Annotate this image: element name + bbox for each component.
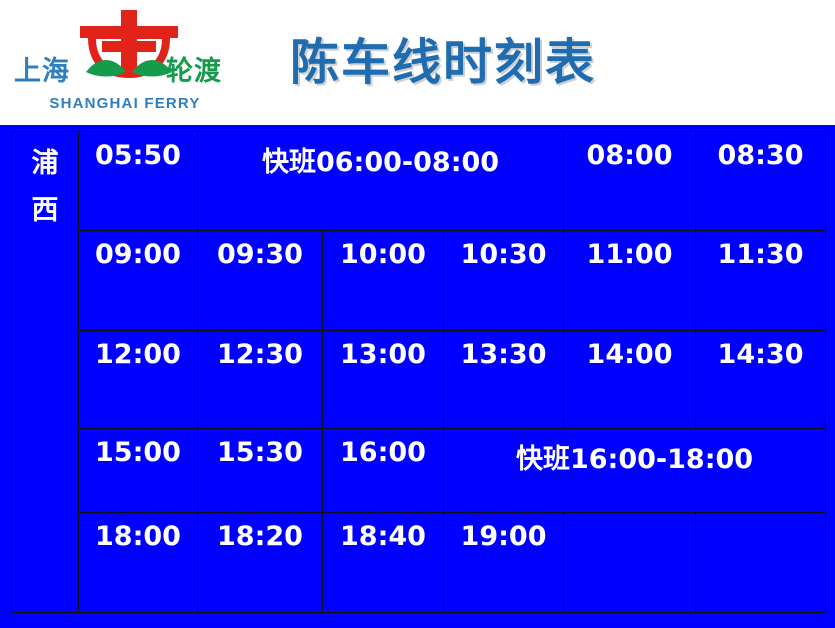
schedule-cell-time: 18:00 (79, 513, 198, 613)
table-row: 09:0009:3010:0010:3011:0011:30 (12, 231, 826, 331)
side-label-char-1: 浦 (14, 140, 76, 187)
table-row: 15:0015:3016:00快班16:00-18:00 (12, 429, 826, 513)
schedule-cell-time: 08:00 (564, 132, 696, 231)
shanghai-ferry-logo: 上海 轮渡 SHANGHAI FERRY (14, 8, 236, 118)
table-row: 12:0012:3013:0013:3014:0014:30 (12, 331, 826, 429)
schedule-cell-time: 18:40 (323, 513, 444, 613)
table-row: 浦西05:50快班06:00-08:0008:0008:30 (12, 132, 826, 231)
schedule-table: 浦西05:50快班06:00-08:0008:0008:3009:0009:30… (11, 131, 826, 613)
schedule-cell-time: 12:00 (79, 331, 198, 429)
schedule-cell-time: 10:30 (444, 231, 564, 331)
schedule-cell-time: 10:00 (323, 231, 444, 331)
schedule-cell-time: 12:30 (198, 331, 323, 429)
schedule-cell-time: 09:30 (198, 231, 323, 331)
schedule-cell-time: 08:30 (696, 132, 826, 231)
schedule-cell-time: 16:00 (323, 429, 444, 513)
schedule-cell-time: 18:20 (198, 513, 323, 613)
schedule-cell-time: 19:00 (444, 513, 564, 613)
logo-text-english: SHANGHAI FERRY (14, 96, 236, 111)
table-row: 18:0018:2018:4019:00 (12, 513, 826, 613)
schedule-cell-time: 14:30 (696, 331, 826, 429)
schedule-cell-time: 11:00 (564, 231, 696, 331)
schedule-cell-express: 快班06:00-08:00 (198, 132, 564, 231)
schedule-cell-express: 快班16:00-18:00 (444, 429, 826, 513)
schedule-cell-empty (564, 513, 696, 613)
poster-header: 上海 轮渡 SHANGHAI FERRY 陈车线时刻表 (0, 0, 835, 125)
schedule-cell-time: 13:00 (323, 331, 444, 429)
schedule-cell-empty (696, 513, 826, 613)
schedule-cell-time: 14:00 (564, 331, 696, 429)
schedule-cell-time: 09:00 (79, 231, 198, 331)
logo-text-shanghai: 上海 (14, 58, 70, 85)
schedule-cell-time: 15:00 (79, 429, 198, 513)
schedule-cell-time: 13:30 (444, 331, 564, 429)
logo-text-ferry: 轮渡 (166, 58, 222, 85)
schedule-cell-time: 05:50 (79, 132, 198, 231)
schedule-poster: 上海 轮渡 SHANGHAI FERRY 陈车线时刻表 浦西05:50快班06:… (0, 0, 835, 628)
side-label-puxi: 浦西 (12, 132, 79, 613)
schedule-cell-time: 15:30 (198, 429, 323, 513)
side-label-char-2: 西 (14, 187, 76, 234)
schedule-body: 浦西05:50快班06:00-08:0008:0008:3009:0009:30… (0, 125, 835, 628)
page-title: 陈车线时刻表 (290, 36, 596, 90)
schedule-cell-time: 11:30 (696, 231, 826, 331)
